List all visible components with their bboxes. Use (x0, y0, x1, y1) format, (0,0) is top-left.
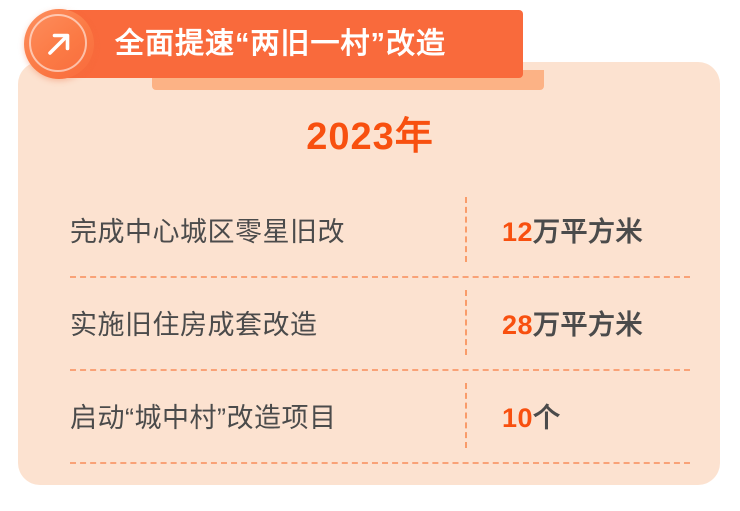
row-label: 实施旧住房成套改造 (70, 303, 465, 342)
row-value: 10个 (502, 396, 561, 435)
arrow-up-right-icon (24, 9, 94, 79)
row-unit: 个 (533, 403, 561, 433)
row-number: 10 (502, 403, 533, 433)
row-number: 12 (502, 217, 533, 247)
row-vertical-divider (465, 383, 467, 448)
row-unit: 万平方米 (533, 310, 643, 340)
row-separator (70, 462, 690, 464)
row-number: 28 (502, 310, 533, 340)
row-vertical-divider (465, 290, 467, 355)
row-vertical-divider (465, 197, 467, 262)
row-unit: 万平方米 (533, 217, 643, 247)
year-title: 2023年 (0, 118, 740, 156)
stats-list: 完成中心城区零星旧改 12万平方米 实施旧住房成套改造 28万平方米 启动“城中… (70, 183, 690, 462)
row-value: 28万平方米 (502, 303, 643, 342)
infographic-root: 全面提速“两旧一村”改造 2023年 完成中心城区零星旧改 12万平方米 实施旧… (0, 0, 740, 511)
table-row: 完成中心城区零星旧改 12万平方米 (70, 183, 690, 276)
row-label: 启动“城中村”改造项目 (70, 396, 465, 435)
table-row: 启动“城中村”改造项目 10个 (70, 369, 690, 462)
row-label: 完成中心城区零星旧改 (70, 210, 465, 249)
header-banner: 全面提速“两旧一村”改造 (57, 10, 523, 78)
banner-title: 全面提速“两旧一村”改造 (115, 30, 446, 59)
row-value: 12万平方米 (502, 210, 643, 249)
table-row: 实施旧住房成套改造 28万平方米 (70, 276, 690, 369)
